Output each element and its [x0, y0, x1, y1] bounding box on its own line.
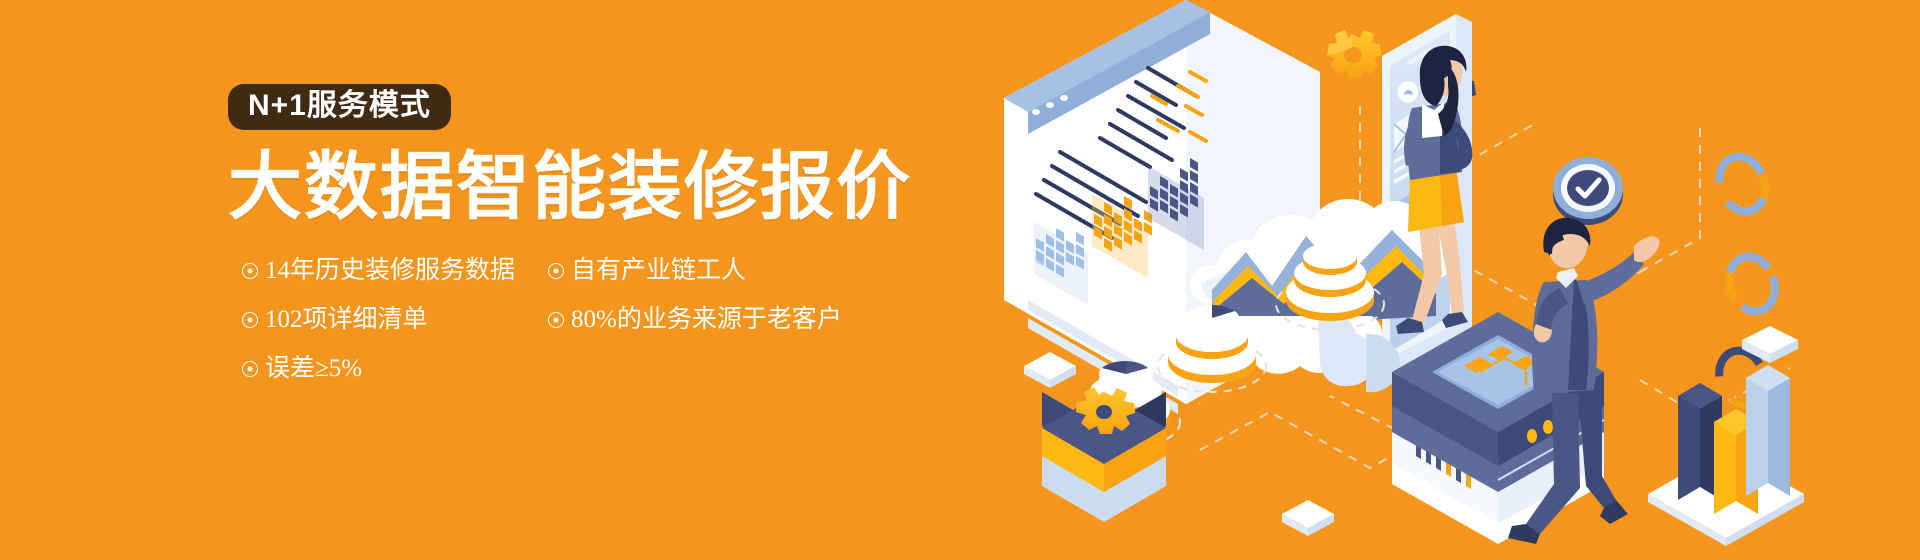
bar-chart-podium — [1648, 365, 1804, 546]
bullet-dot-icon — [242, 263, 258, 279]
page-title: 大数据智能装修报价 — [228, 150, 988, 224]
gear-hexagon-stack — [1042, 387, 1166, 522]
promo-banner: N+1服务模式 大数据智能装修报价 14年历史装修服务数据 102项详细清单 误… — [0, 0, 1920, 560]
list-item: 14年历史装修服务数据 — [242, 258, 542, 283]
list-item-label: 自有产业链工人 — [571, 258, 746, 283]
bullet-dot-icon — [242, 312, 258, 328]
list-item: 误差≥5% — [242, 356, 542, 381]
feature-list-right-column: 自有产业链工人 80%的业务来源于老客户 — [548, 258, 888, 356]
service-mode-badge: N+1服务模式 — [228, 84, 451, 130]
list-item-label: 102项详细清单 — [265, 307, 428, 332]
list-item: 80%的业务来源于老客户 — [548, 307, 888, 332]
bullet-dot-icon — [242, 361, 258, 377]
list-item-label: 14年历史装修服务数据 — [265, 258, 515, 283]
bullet-dot-icon — [548, 263, 564, 279]
banner-text-block: N+1服务模式 大数据智能装修报价 14年历史装修服务数据 102项详细清单 误… — [228, 84, 988, 484]
feature-list-left-column: 14年历史装修服务数据 102项详细清单 误差≥5% — [242, 258, 542, 405]
list-item: 102项详细清单 — [242, 307, 542, 332]
gear-yellow — [1327, 30, 1382, 78]
big-data-isometric-illustration — [1000, 0, 1920, 560]
floating-tile-2 — [1282, 500, 1334, 536]
list-item-label: 80%的业务来源于老客户 — [571, 307, 842, 332]
ring-arrow-2 — [1722, 250, 1782, 318]
ring-arrow-1 — [1712, 150, 1772, 218]
list-item: 自有产业链工人 — [548, 258, 888, 283]
check-badge — [1553, 157, 1623, 225]
list-item-label: 误差≥5% — [265, 356, 362, 381]
bullet-dot-icon — [548, 312, 564, 328]
